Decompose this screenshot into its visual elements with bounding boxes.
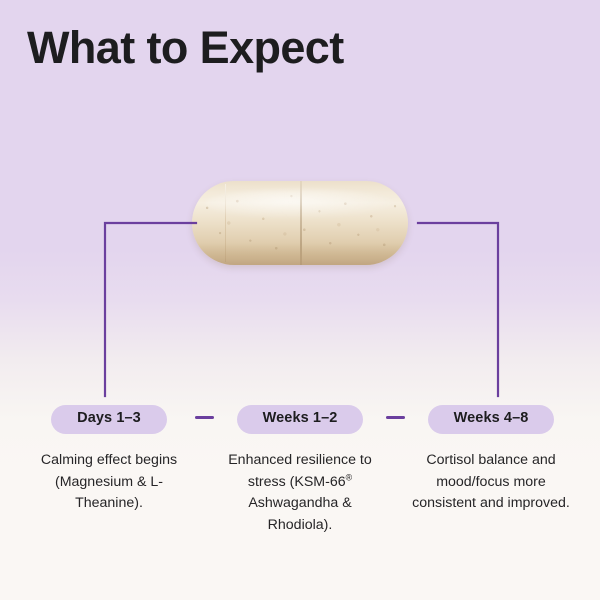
step-badge-weeks-4-8: Weeks 4–8 <box>428 405 555 434</box>
timeline-step-2: Weeks 1–2 Enhanced resilience to stress … <box>214 405 386 536</box>
page-title: What to Expect <box>27 24 344 71</box>
step-description-3: Cortisol balance and mood/focus more con… <box>407 450 575 515</box>
step-badge-weeks-1-2: Weeks 1–2 <box>237 405 364 434</box>
connector-bracket-right <box>410 212 530 412</box>
step-separator-dash-2 <box>386 416 405 419</box>
step-description-2-text-before: Enhanced resilience to stress (KSM-66 <box>228 452 372 490</box>
registered-trademark-icon: ® <box>346 472 352 482</box>
timeline-step-3: Weeks 4–8 Cortisol balance and mood/focu… <box>405 405 577 515</box>
capsule-cap-ridge <box>225 184 226 261</box>
step-description-2-text-after: Ashwagandha & Rhodiola). <box>248 495 351 533</box>
step-description-2: Enhanced resilience to stress (KSM-66® A… <box>216 450 384 536</box>
what-to-expect-infographic: What to Expect Days 1–3 Calming effect b… <box>0 0 600 600</box>
capsule-seam-line <box>300 181 302 265</box>
timeline-steps: Days 1–3 Calming effect begins (Magnesiu… <box>0 405 600 536</box>
step-description-1: Calming effect begins (Magnesium & L-The… <box>25 450 193 515</box>
step-badge-days-1-3: Days 1–3 <box>51 405 167 434</box>
capsule-shape <box>192 181 408 265</box>
timeline-step-1: Days 1–3 Calming effect begins (Magnesiu… <box>23 405 195 515</box>
capsule-image <box>192 181 408 265</box>
step-separator-dash-1 <box>195 416 214 419</box>
